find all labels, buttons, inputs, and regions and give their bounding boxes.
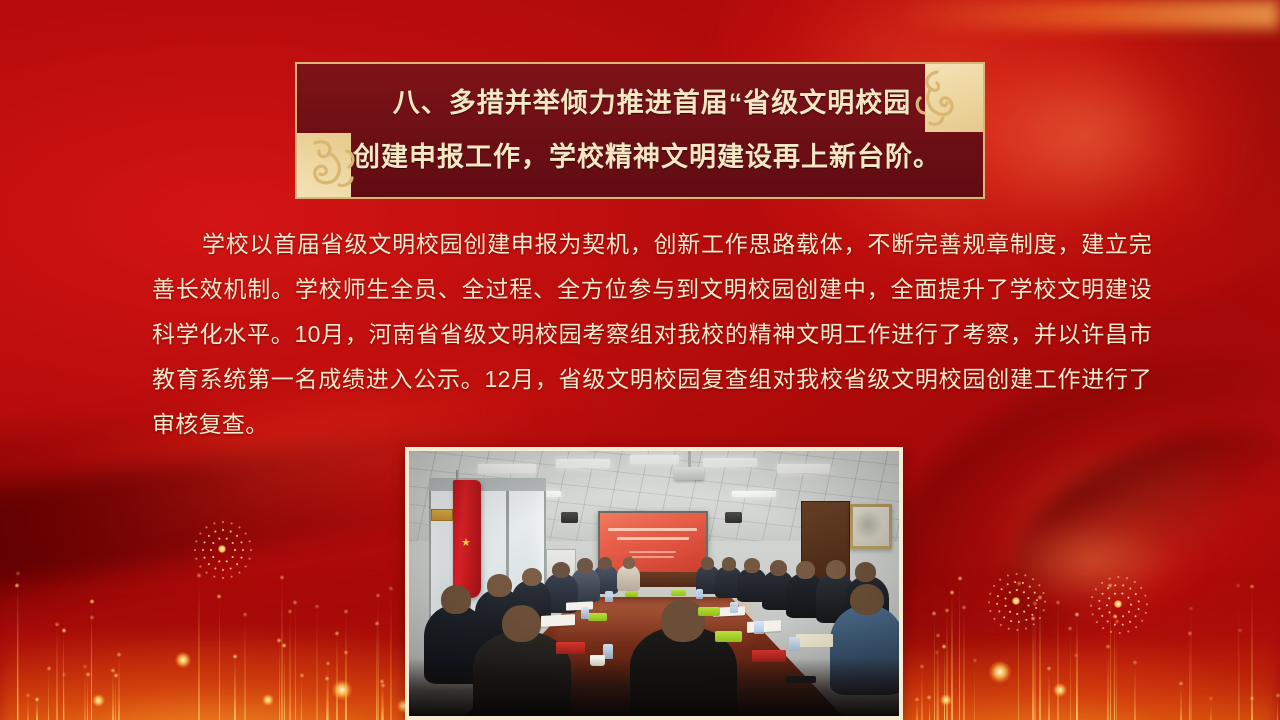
- tissue-box: [588, 613, 608, 621]
- ceiling-light: [478, 464, 537, 473]
- attendee-head: [850, 584, 884, 616]
- projection-screen: [598, 511, 708, 573]
- ceiling-light: [630, 455, 679, 464]
- wall-plaque: [431, 509, 453, 521]
- attendee-head: [441, 585, 471, 614]
- document-paper: [541, 614, 575, 626]
- projector: [674, 467, 704, 480]
- silk-top-edge-glow: [896, 0, 1280, 29]
- attendee-head: [502, 605, 541, 642]
- attendee-head: [826, 560, 847, 579]
- water-bottle: [754, 621, 764, 634]
- title-text-block: 八、多措并举倾力推进首届“省级文明校园 创建申报工作，学校精神文明建设再上新台阶…: [297, 64, 983, 184]
- desk-item-box: [556, 642, 585, 654]
- attendee-head: [701, 557, 714, 570]
- attendee-head: [855, 562, 877, 582]
- tissue-box: [625, 591, 639, 597]
- water-bottle: [696, 589, 703, 599]
- wall-speaker: [561, 512, 578, 523]
- notepad: [796, 634, 833, 647]
- water-bottle: [581, 607, 590, 619]
- wall-speaker: [725, 512, 742, 523]
- document-paper: [747, 620, 781, 632]
- attendee-head: [744, 558, 760, 573]
- meeting-photo-image: ★: [409, 451, 899, 716]
- attendee-head: [661, 599, 705, 641]
- title-line-2: 创建申报工作，学校精神文明建设再上新台阶。: [333, 130, 953, 184]
- tissue-box: [715, 631, 742, 642]
- attendee-head: [552, 562, 570, 578]
- title-banner: 八、多措并举倾力推进首届“省级文明校园 创建申报工作，学校精神文明建设再上新台阶…: [295, 62, 985, 199]
- attendee: [830, 605, 899, 695]
- attendee-head: [487, 574, 512, 597]
- desk-item-box: [752, 650, 786, 662]
- window-header: [429, 478, 547, 491]
- water-bottle: [789, 637, 800, 652]
- ceiling-light: [732, 491, 776, 497]
- attendee-head: [522, 568, 543, 587]
- attendee-head: [623, 557, 636, 569]
- ceiling-light: [777, 464, 831, 473]
- attendee-head: [770, 560, 788, 576]
- attendee-head: [796, 561, 816, 579]
- presentation-slide: 八、多措并举倾力推进首届“省级文明校园 创建申报工作，学校精神文明建设再上新台阶…: [0, 0, 1280, 720]
- meeting-photo: ★: [405, 447, 903, 720]
- framed-picture: [850, 504, 892, 549]
- smartphone: [786, 676, 815, 683]
- attendee-head: [577, 558, 593, 573]
- paper-cup: [590, 655, 605, 666]
- tissue-box: [671, 590, 686, 596]
- water-bottle: [605, 591, 613, 602]
- flag-star-icon: ★: [461, 538, 471, 549]
- tissue-box: [698, 607, 720, 616]
- water-bottle: [730, 602, 738, 613]
- attendee-head: [598, 557, 612, 570]
- body-paragraph: 学校以首届省级文明校园创建申报为契机，创新工作思路载体，不断完善规章制度，建立完…: [152, 222, 1152, 447]
- title-line-1: 八、多措并举倾力推进首届“省级文明校园: [333, 76, 953, 130]
- ceiling-light: [556, 459, 610, 468]
- ceiling-light: [703, 458, 757, 467]
- attendee-head: [722, 557, 737, 571]
